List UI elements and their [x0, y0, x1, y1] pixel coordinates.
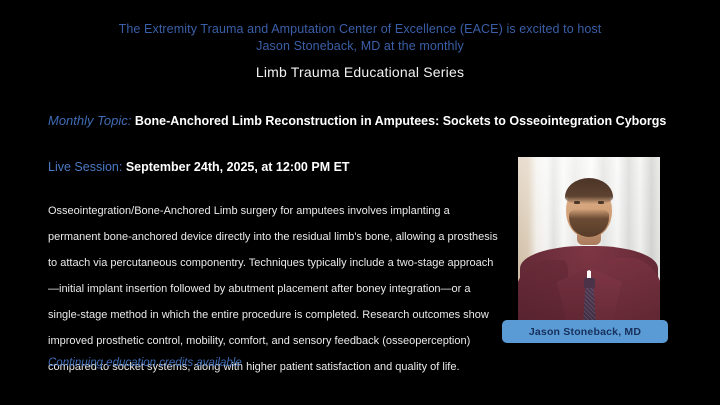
monthly-topic-label: Monthly Topic: [48, 113, 131, 128]
header-line-2: Jason Stoneback, MD at the monthly [0, 39, 720, 53]
speaker-name-caption: Jason Stoneback, MD [502, 320, 668, 343]
monthly-topic-value: Bone-Anchored Limb Reconstruction in Amp… [135, 114, 667, 128]
speaker-portrait [518, 157, 660, 332]
live-session-row: Live Session: September 24th, 2025, at 1… [48, 160, 350, 174]
presentation-slide: The Extremity Trauma and Amputation Cent… [0, 0, 720, 405]
monthly-topic-row: Monthly Topic: Bone-Anchored Limb Recons… [48, 113, 666, 128]
portrait-tie-knot [584, 278, 595, 288]
header-line-1: The Extremity Trauma and Amputation Cent… [0, 22, 720, 36]
portrait-eye-right [598, 201, 604, 204]
portrait-eye-left [574, 201, 580, 204]
series-title: Limb Trauma Educational Series [0, 64, 720, 80]
live-session-value: September 24th, 2025, at 12:00 PM ET [126, 160, 350, 174]
body-paragraph: Osseointegration/Bone-Anchored Limb surg… [48, 198, 500, 380]
live-session-label: Live Session: [48, 160, 122, 174]
continuing-education-note: Continuing education credits available [48, 357, 242, 369]
